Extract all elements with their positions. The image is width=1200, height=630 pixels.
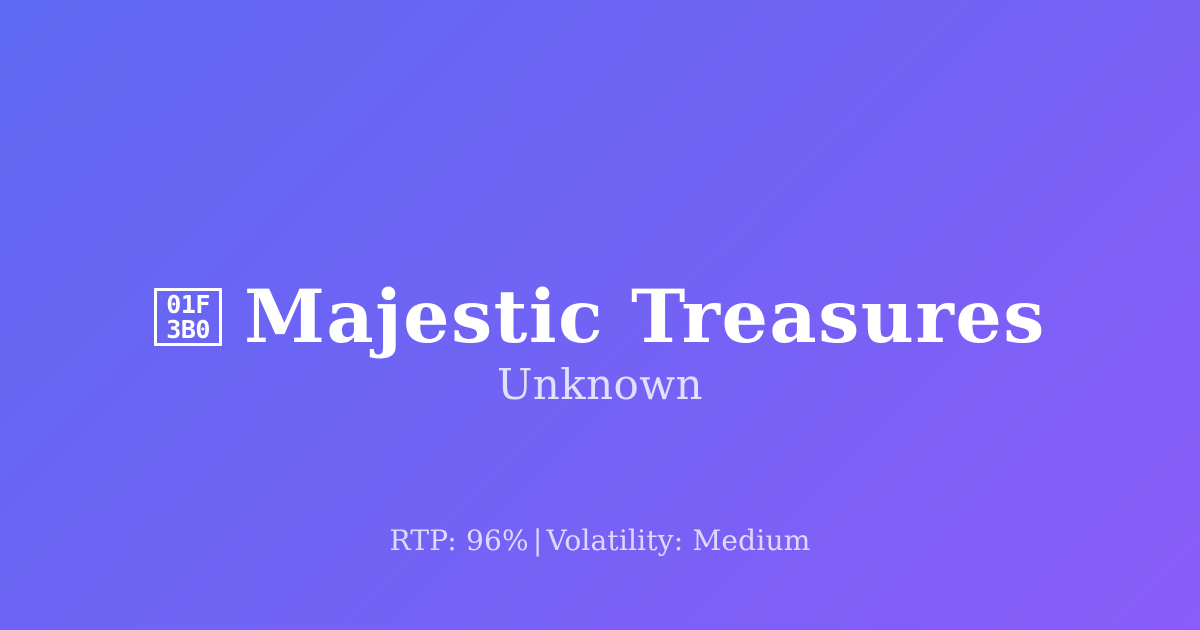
volatility-stat: Volatility: Medium xyxy=(546,524,810,557)
game-stats: RTP: 96%|Volatility: Medium xyxy=(0,527,1200,555)
slot-machine-tofu-icon: 01F 3B0 xyxy=(154,288,222,346)
game-promo-card: 01F 3B0 Majestic Treasures Unknown RTP: … xyxy=(0,0,1200,630)
provider-label: Unknown xyxy=(0,364,1200,406)
tofu-codepoint-bottom: 3B0 xyxy=(166,317,210,342)
tofu-codepoint-top: 01F xyxy=(166,292,210,317)
stats-separator: | xyxy=(529,524,547,557)
rtp-stat: RTP: 96% xyxy=(390,524,529,557)
page-title: Majestic Treasures xyxy=(244,281,1046,354)
